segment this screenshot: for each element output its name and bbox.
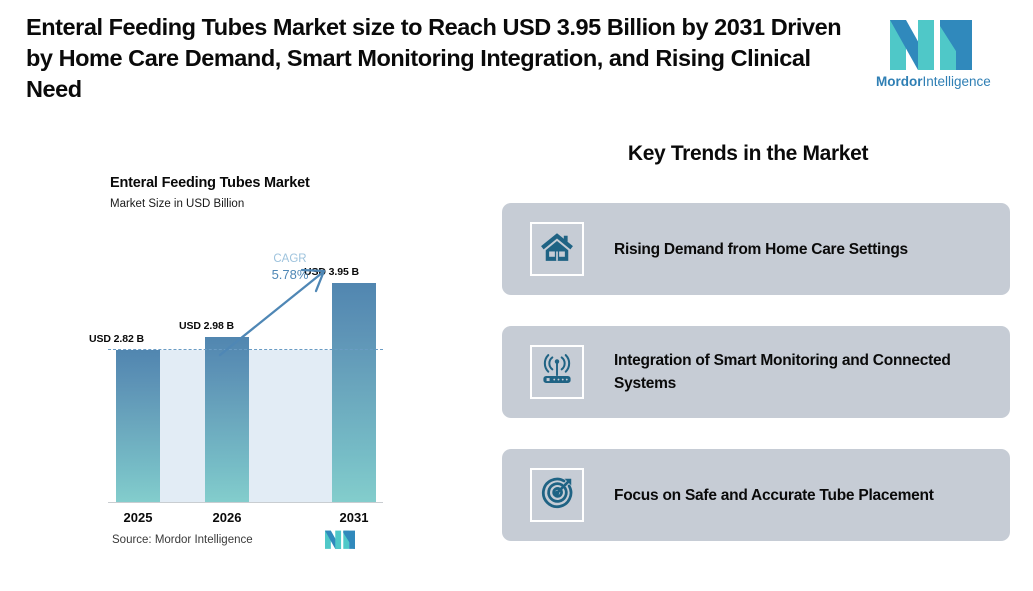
key-trends-panel: Key Trends in the Market Rising Demand f… [460, 110, 1033, 591]
trend-label: Integration of Smart Monitoring and Conn… [614, 349, 974, 395]
router-wifi-icon [540, 353, 574, 392]
chart-source-label: Source: Mordor Intelligence [112, 534, 253, 546]
mordor-m-mark [890, 16, 972, 70]
bar-value-label-2026: USD 2.98 B [179, 320, 234, 332]
trend-label: Focus on Safe and Accurate Tube Placemen… [614, 484, 934, 507]
wordmark-bold: Mordor [876, 74, 923, 89]
target-arrow-icon [540, 476, 574, 515]
trend-icon-box [530, 468, 584, 522]
cagr-label: CAGR [258, 252, 322, 267]
trend-card-tube-placement[interactable]: Focus on Safe and Accurate Tube Placemen… [502, 449, 1010, 541]
bar-2031 [332, 283, 376, 502]
trend-icon-box [530, 222, 584, 276]
mordor-intelligence-logo: MordorIntelligence [876, 16, 986, 94]
chart-panel: Enteral Feeding Tubes Market Market Size… [0, 110, 460, 591]
cagr-value: 5.78% [258, 267, 322, 282]
chart-title: Enteral Feeding Tubes Market [110, 175, 310, 191]
bar-chart-plot: USD 2.82 B USD 2.98 B USD 3.95 B CAGR 5.… [108, 230, 383, 502]
chart-subtitle: Market Size in USD Billion [110, 198, 244, 210]
mordor-m-mark-small [325, 528, 355, 550]
trend-icon-box [530, 345, 584, 399]
wordmark-light: Intelligence [923, 74, 991, 89]
x-tick-2025: 2025 [103, 510, 173, 525]
key-trends-heading: Key Trends in the Market [518, 142, 978, 166]
x-tick-2026: 2026 [192, 510, 262, 525]
x-tick-2031: 2031 [319, 510, 389, 525]
bar-2026 [205, 337, 249, 502]
baseline-dashed-line [108, 349, 383, 350]
bar-value-label-2025: USD 2.82 B [89, 333, 144, 345]
page-header: Enteral Feeding Tubes Market size to Rea… [0, 0, 1033, 110]
trend-card-smart-monitoring[interactable]: Integration of Smart Monitoring and Conn… [502, 326, 1010, 418]
cagr-annotation: CAGR 5.78% [258, 252, 322, 282]
trend-label: Rising Demand from Home Care Settings [614, 238, 908, 261]
page-title: Enteral Feeding Tubes Market size to Rea… [26, 12, 846, 105]
bar-2025 [116, 350, 160, 502]
home-icon [540, 230, 574, 269]
trend-card-home-care[interactable]: Rising Demand from Home Care Settings [502, 203, 1010, 295]
x-axis-line [108, 502, 383, 503]
mordor-wordmark: MordorIntelligence [876, 74, 986, 90]
